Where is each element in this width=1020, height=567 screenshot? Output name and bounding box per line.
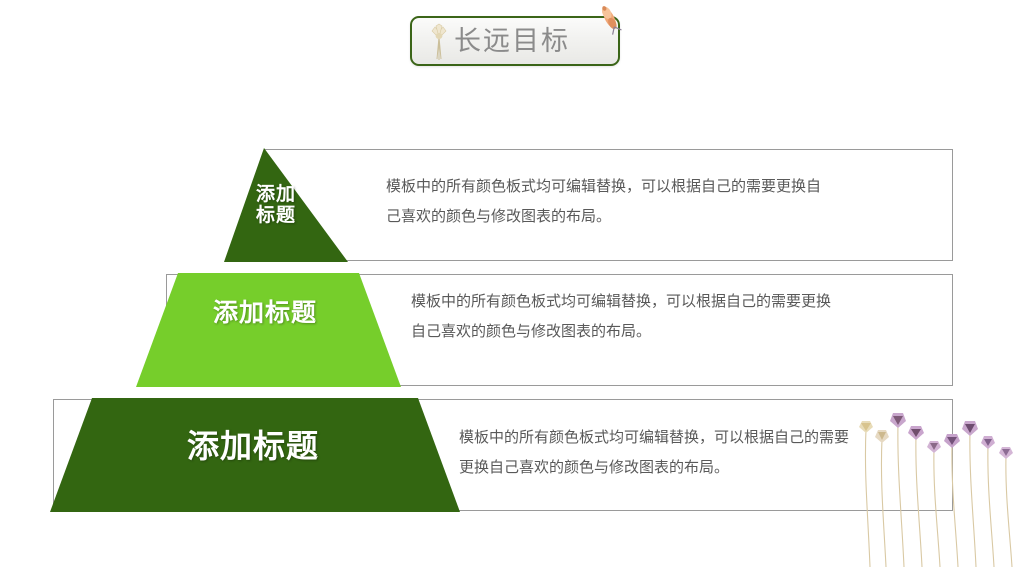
butterfly-icon: [592, 2, 628, 36]
pyramid-tier-2-label: 添加标题: [160, 299, 370, 327]
tier-1-body-text: 模板中的所有颜色板式均可编辑替换，可以根据自己的需要更换自 己喜欢的颜色与修改图…: [386, 172, 916, 232]
page-title: 长远目标: [454, 16, 612, 66]
pyramid-tier-1-label: 添加 标题: [224, 184, 328, 227]
dried-seedpod-icon: [428, 23, 450, 61]
pyramid-tier-2[interactable]: [136, 273, 401, 387]
slide-title-area: 长远目标: [410, 16, 620, 66]
pyramid-tier-3-label: 添加标题: [98, 429, 408, 465]
slide-canvas: 长远目标 添加 标题 添加标题: [0, 0, 1020, 567]
dried-flowers-icon: [858, 405, 1020, 567]
tier-2-body-text: 模板中的所有颜色板式均可编辑替换，可以根据自己的需要更换 自己喜欢的颜色与修改图…: [411, 287, 941, 347]
